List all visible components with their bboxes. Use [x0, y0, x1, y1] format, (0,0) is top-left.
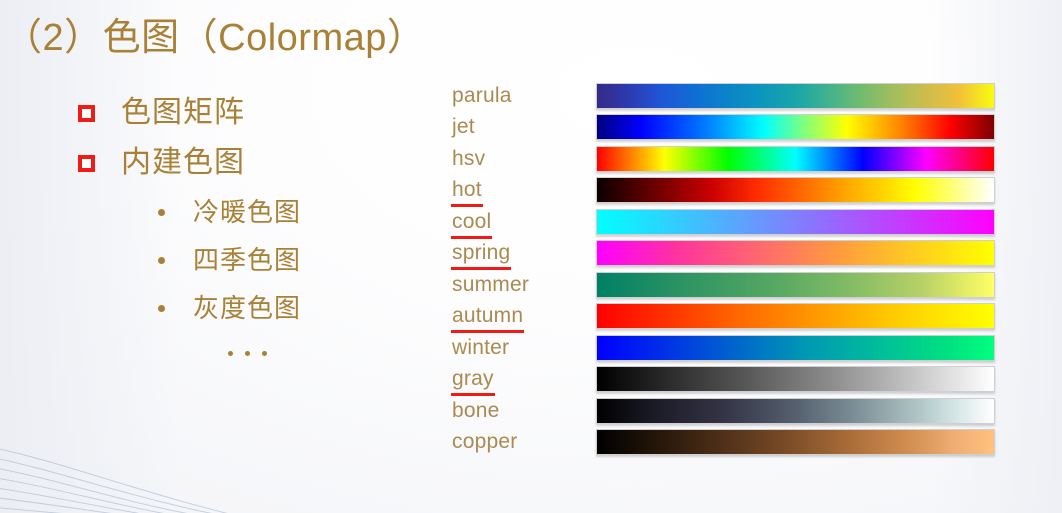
outline-item-label: 冷暖色图 [193, 199, 301, 225]
outline-item-label: 四季色图 [193, 247, 301, 273]
colormap-name-label: jet [452, 116, 475, 137]
outline-item-label: 灰度色图 [193, 295, 301, 321]
colormap-name-label: cool [452, 211, 491, 232]
colormap-label-wrap: spring [452, 242, 596, 264]
slide-canvas: （2）色图（Colormap） 色图矩阵 内建色图 冷暖色图 四季色图 灰度色图… [0, 0, 1062, 513]
colormap-gradient-bar [596, 240, 995, 266]
red-square-bullet-icon [78, 105, 95, 122]
colormap-label-wrap: summer [452, 274, 596, 296]
colormap-list: parulajethsvhotcoolspringsummerautumnwin… [452, 80, 995, 458]
colormap-name-label: bone [452, 400, 500, 421]
colormap-gradient-bar [596, 366, 995, 392]
colormap-label-wrap: cool [452, 211, 596, 233]
colormap-gradient-bar [596, 272, 995, 298]
colormap-name-label: hot [452, 179, 482, 200]
outline-item-level2: 冷暖色图 [158, 188, 438, 236]
dot-bullet-icon [158, 257, 165, 264]
colormap-name-label: autumn [452, 305, 523, 326]
colormap-row: copper [452, 427, 995, 459]
outline-ellipsis [158, 340, 438, 366]
colormap-label-wrap: copper [452, 431, 596, 453]
colormap-row: jet [452, 112, 995, 144]
dot-bullet-icon [158, 209, 165, 216]
colormap-name-label: gray [452, 368, 494, 389]
colormap-row: summer [452, 269, 995, 301]
colormap-label-wrap: hot [452, 179, 596, 201]
colormap-gradient-bar [596, 114, 995, 140]
outline-list: 色图矩阵 内建色图 冷暖色图 四季色图 灰度色图 [78, 88, 438, 366]
colormap-gradient-bar [596, 146, 995, 172]
colormap-label-wrap: autumn [452, 305, 596, 327]
colormap-label-wrap: parula [452, 85, 596, 107]
colormap-gradient-bar [596, 429, 995, 455]
outline-item-label: 色图矩阵 [121, 98, 245, 128]
colormap-row: cool [452, 206, 995, 238]
colormap-label-wrap: winter [452, 337, 596, 359]
page-title: （2）色图（Colormap） [4, 6, 425, 61]
red-square-bullet-icon [78, 155, 95, 172]
colormap-gradient-bar [596, 177, 995, 203]
colormap-row: bone [452, 395, 995, 427]
colormap-name-label: parula [452, 85, 512, 106]
colormap-row: winter [452, 332, 995, 364]
colormap-name-label: summer [452, 274, 529, 295]
dot-bullet-icon [158, 305, 165, 312]
colormap-name-label: copper [452, 431, 517, 452]
colormap-label-wrap: bone [452, 400, 596, 422]
colormap-gradient-bar [596, 209, 995, 235]
colormap-name-label: hsv [452, 148, 485, 169]
colormap-row: spring [452, 238, 995, 270]
outline-item-level1: 色图矩阵 [78, 88, 438, 138]
decorative-curve-fan [0, 389, 250, 513]
colormap-gradient-bar [596, 398, 995, 424]
colormap-row: autumn [452, 301, 995, 333]
outline-item-level1: 内建色图 [78, 138, 438, 188]
outline-item-level2: 灰度色图 [158, 284, 438, 332]
ellipsis-dots-icon [228, 351, 267, 356]
colormap-name-label: spring [452, 242, 510, 263]
colormap-gradient-bar [596, 83, 995, 109]
colormap-label-wrap: jet [452, 116, 596, 138]
colormap-row: parula [452, 80, 995, 112]
colormap-label-wrap: gray [452, 368, 596, 390]
outline-item-level2: 四季色图 [158, 236, 438, 284]
colormap-row: hot [452, 175, 995, 207]
colormap-gradient-bar [596, 335, 995, 361]
outline-item-label: 内建色图 [121, 148, 245, 178]
colormap-row: gray [452, 364, 995, 396]
colormap-row: hsv [452, 143, 995, 175]
colormap-gradient-bar [596, 303, 995, 329]
colormap-name-label: winter [452, 337, 509, 358]
colormap-label-wrap: hsv [452, 148, 596, 170]
